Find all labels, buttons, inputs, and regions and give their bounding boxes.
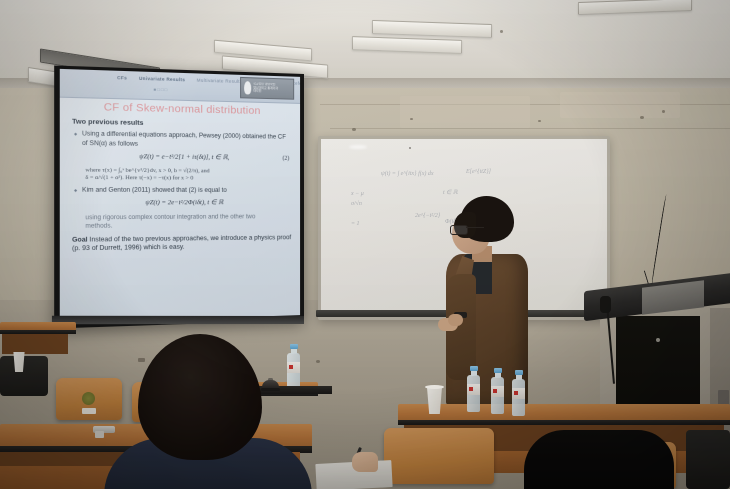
- slide-progress-dots: ■□□□: [154, 87, 169, 93]
- wall-mark: [662, 110, 665, 113]
- wall-mark: [538, 120, 541, 122]
- breadcrumb-item-multivariate: Multivariate Results: [197, 78, 243, 85]
- water-bottle: [287, 344, 300, 390]
- bottle-label: [491, 386, 504, 397]
- whiteboard-mark: [409, 147, 411, 149]
- desk-shelf: [2, 334, 68, 354]
- slide-bullet: Kim and Genton (2011) showed that (2) is…: [72, 186, 291, 195]
- whiteboard-note: ψ(t) = ∫ e^{itx} f(x) dx: [381, 171, 434, 177]
- chair: [384, 428, 494, 484]
- lectern-screw: [656, 338, 660, 342]
- projection-screen: CFsUnivariate ResultsMultivariate Result…: [54, 65, 304, 328]
- breadcrumb-item-univariate: Univariate Results: [139, 76, 185, 83]
- breadcrumb-item-cfs: CFs: [117, 75, 127, 81]
- ceiling-sensor: [500, 30, 503, 33]
- attendee-hand: [352, 452, 378, 472]
- slide-where-line: δ = α/√(1 + α²). Here τ(−x) = −τ(x) for …: [72, 175, 291, 184]
- paper-cup-rim: [425, 385, 444, 389]
- wall-patch: [560, 92, 680, 118]
- chair-label: [82, 408, 96, 414]
- slide-equation-2: ψZ(t) = 2e−t²/2Φ(iδt), t ∈ ℝ: [72, 199, 291, 208]
- presenter-hand: [448, 314, 463, 326]
- slide-header-bar: CFsUnivariate ResultsMultivariate Result…: [60, 69, 300, 104]
- projected-slide: CFsUnivariate ResultsMultivariate Result…: [60, 69, 300, 323]
- chair-emblem-icon: [82, 392, 95, 405]
- logo-mark-icon: [244, 81, 251, 94]
- bottle-label: [467, 384, 480, 395]
- slide-body: Two previous results Using a differentia…: [72, 118, 291, 254]
- chair: [0, 356, 48, 396]
- wall-mark: [352, 128, 356, 131]
- projection-screen-bottom-rail: [52, 316, 304, 325]
- slide-faint-line: methods.: [72, 221, 291, 231]
- university-logo: 학교법인 영남학원 영남대학교 통계학과 대학원: [240, 77, 294, 100]
- water-bottle: [512, 370, 525, 416]
- lecture-hall-photo: ψ(t) = ∫ e^{itx} f(x) dx E[e^{itZ}] x − …: [0, 0, 730, 489]
- slide-section-head: Two previous results: [72, 118, 291, 131]
- equation-1-number: (2): [283, 155, 290, 164]
- logo-text: 학교법인 영남학원 영남대학교 통계학과 대학원: [253, 83, 278, 95]
- stapler: [93, 426, 115, 433]
- slide-bullet: Using a differential equations approach,…: [72, 130, 291, 151]
- equation-1-body: ψZ(t) = e−t²/2[1 + iτ(δt)], t ∈ ℝ,: [139, 153, 229, 161]
- slide-equation-1: ψZ(t) = e−t²/2[1 + iτ(δt)], t ∈ ℝ, (2): [72, 153, 291, 164]
- whiteboard-note: t ∈ ℝ: [443, 189, 458, 196]
- water-bottle: [467, 366, 480, 412]
- water-bottle: [491, 368, 504, 414]
- whiteboard-note: = 1: [351, 221, 360, 227]
- eyeglasses-icon: [450, 224, 484, 233]
- bottle-label: [287, 362, 300, 373]
- wall-mark: [316, 360, 320, 363]
- slide-goal: Goal Instead of the two previous approac…: [72, 234, 291, 255]
- wall-mark: [640, 116, 644, 119]
- wall-patch: [400, 96, 530, 128]
- whiteboard-glare: [349, 145, 367, 149]
- wall-seam: [330, 128, 730, 129]
- bottle-label: [512, 388, 525, 399]
- attendee-hair: [138, 334, 262, 460]
- chair: [686, 430, 730, 489]
- seated-attendee-front-right: [524, 430, 674, 489]
- whiteboard-note: σ/√n: [351, 201, 362, 207]
- microphone: [600, 296, 611, 313]
- slide-goal-label: Goal: [72, 236, 88, 244]
- equation-2-body: ψZ(t) = 2e−t²/2Φ(iδt), t ∈ ℝ: [145, 199, 223, 206]
- seated-attendee-front-left: [126, 334, 286, 489]
- wall-mark: [410, 118, 413, 120]
- slide-goal-text: Instead of the two previous approaches, …: [72, 234, 291, 253]
- logo-line-3: 대학원: [253, 90, 278, 94]
- whiteboard-note: x − μ: [351, 191, 364, 197]
- whiteboard-note: E[e^{itZ}]: [466, 169, 491, 175]
